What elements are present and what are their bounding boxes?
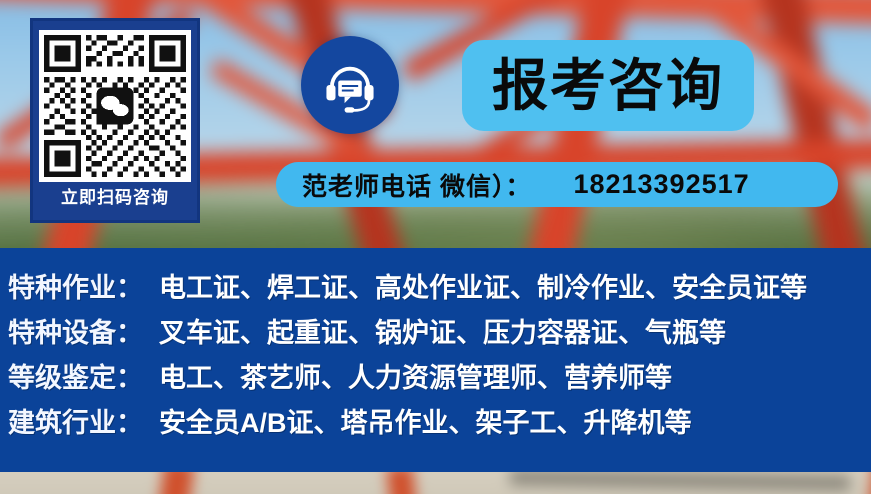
contact-label: 范老师电话 微信）：	[302, 167, 531, 203]
category-items: 电工证、焊工证、高处作业证、制冷作业、安全员证等	[159, 266, 807, 305]
qr-code-block[interactable]: 立即扫码咨询	[30, 18, 200, 223]
headset-chat-icon	[301, 36, 399, 134]
qr-caption: 立即扫码咨询	[61, 189, 169, 206]
list-item: 等级鉴定： 电工、茶艺师、人力资源管理师、营养师等	[8, 356, 871, 401]
category-items: 安全员A/B证、塔吊作业、架子工、升降机等	[159, 401, 692, 440]
category-name: 等级鉴定：	[8, 356, 143, 395]
list-item: 特种作业： 电工证、焊工证、高处作业证、制冷作业、安全员证等	[8, 266, 871, 311]
list-item: 建筑行业： 安全员A/B证、塔吊作业、架子工、升降机等	[8, 401, 871, 446]
category-items: 电工、茶艺师、人力资源管理师、营养师等	[159, 356, 672, 395]
category-name: 特种设备：	[8, 311, 143, 350]
background-photo-site-bottom	[0, 472, 871, 494]
list-item: 特种设备： 叉车证、起重证、锅炉证、压力容器证、气瓶等	[8, 311, 871, 356]
certificate-list-panel: 特种作业： 电工证、焊工证、高处作业证、制冷作业、安全员证等 特种设备： 叉车证…	[0, 248, 871, 472]
page-title: 报考咨询	[492, 58, 724, 114]
category-name: 特种作业：	[8, 266, 143, 305]
headline-badge: 报考咨询	[462, 40, 754, 131]
promo-poster: 立即扫码咨询 报考咨询 范老师电话 微信）： 18213392517 特	[0, 0, 871, 494]
wechat-icon	[97, 88, 134, 125]
qr-code-icon[interactable]	[39, 30, 191, 182]
category-name: 建筑行业：	[8, 401, 143, 440]
contact-badge[interactable]: 范老师电话 微信）： 18213392517	[276, 162, 838, 207]
contact-number[interactable]: 18213392517	[573, 169, 749, 200]
category-items: 叉车证、起重证、锅炉证、压力容器证、气瓶等	[159, 311, 726, 350]
